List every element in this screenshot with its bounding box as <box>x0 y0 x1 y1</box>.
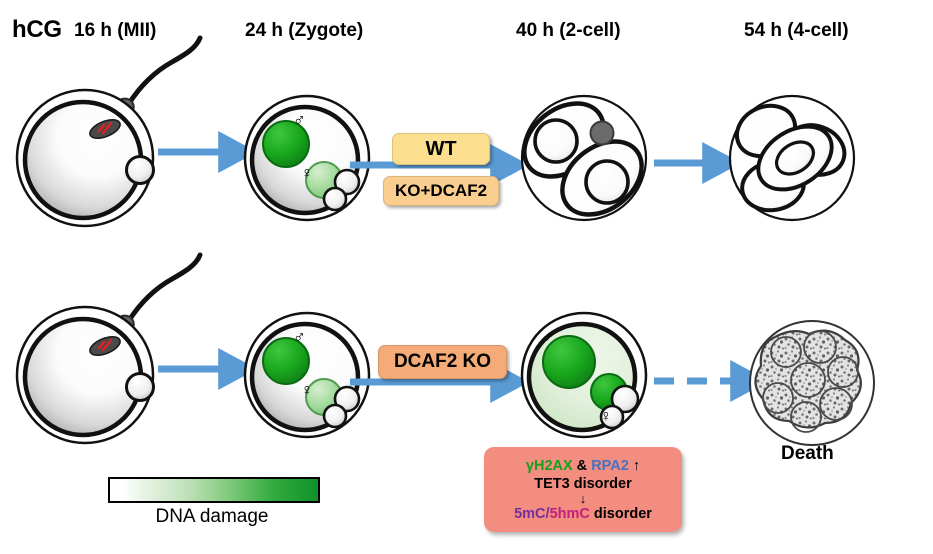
timepoint-40h-label: 40 h (2-cell) <box>516 20 621 42</box>
outcome-line-methylation: 5mC/5hmC disorder <box>514 506 652 522</box>
zygote-normal-row2 <box>245 313 369 437</box>
outcome-annotation-box: γH2AX & RPA2 ↑ TET3 disorder ↓ 5mC/5hmC … <box>484 447 682 532</box>
condition-label-ko-plus-dcaf2: KO+DCAF2 <box>383 176 499 206</box>
polar-body-2 <box>324 405 346 427</box>
mii-oocyte-row1 <box>17 38 200 226</box>
female-symbol-zygote-row1: ♀ <box>301 165 313 183</box>
polar-body <box>127 374 154 401</box>
nucleus-1 <box>535 120 577 162</box>
dna-damage-gradient-bar <box>108 477 320 503</box>
ampersand: & <box>573 458 592 474</box>
timepoint-24h-label: 24 h (Zygote) <box>245 20 363 42</box>
male-symbol-zygote-row2: ♂ <box>293 327 306 347</box>
dna-damage-legend-label: DNA damage <box>108 506 316 528</box>
polar-body-2 <box>324 188 346 210</box>
outcome-line-tet3: TET3 disorder <box>534 476 632 492</box>
female-symbol-damaged-zygote: ♀ <box>600 408 612 426</box>
embryo-development-illustration <box>0 0 933 554</box>
nucleus-2 <box>586 161 628 203</box>
mii-oocyte-row2 <box>17 255 200 443</box>
fragmented-mass <box>755 331 860 428</box>
five-mc-label: 5mC <box>514 506 545 522</box>
disorder-text: disorder <box>590 506 652 522</box>
hcg-label: hCG <box>12 16 62 44</box>
two-cell-embryo <box>510 88 656 229</box>
rpa2-label: RPA2 <box>591 458 629 474</box>
male-symbol-damaged-zygote: ♂ <box>541 327 554 347</box>
sperm-tail <box>128 255 200 322</box>
timepoint-54h-label: 54 h (4-cell) <box>744 20 849 42</box>
dead-embryo <box>750 321 874 445</box>
timepoint-16h-label: 16 h (MII) <box>74 20 156 42</box>
down-arrow-icon: ↓ <box>580 493 587 505</box>
sperm-tail <box>128 38 200 105</box>
four-cell-embryo <box>729 96 854 220</box>
oocyte-cytoplasm <box>25 102 141 218</box>
zygote-normal-row1 <box>245 96 369 220</box>
polar-body <box>591 122 614 145</box>
female-symbol-zygote-row2: ♀ <box>301 382 313 400</box>
gamma-h2ax-label: γH2AX <box>526 458 573 474</box>
dna-damage-legend: DNA damage <box>108 477 320 528</box>
condition-label-wt: WT <box>392 133 490 165</box>
diagram-canvas: hCG 16 h (MII) 24 h (Zygote) 40 h (2-cel… <box>0 0 933 554</box>
up-arrow-icon: ↑ <box>629 458 640 474</box>
oocyte-cytoplasm <box>25 319 141 435</box>
five-hmc-label: 5hmC <box>550 506 590 522</box>
condition-label-dcaf2-ko: DCAF2 KO <box>378 345 507 379</box>
male-symbol-zygote-row1: ♂ <box>293 110 306 130</box>
outcome-line-markers: γH2AX & RPA2 ↑ <box>526 458 640 474</box>
death-label: Death <box>781 443 834 465</box>
polar-body <box>127 157 154 184</box>
